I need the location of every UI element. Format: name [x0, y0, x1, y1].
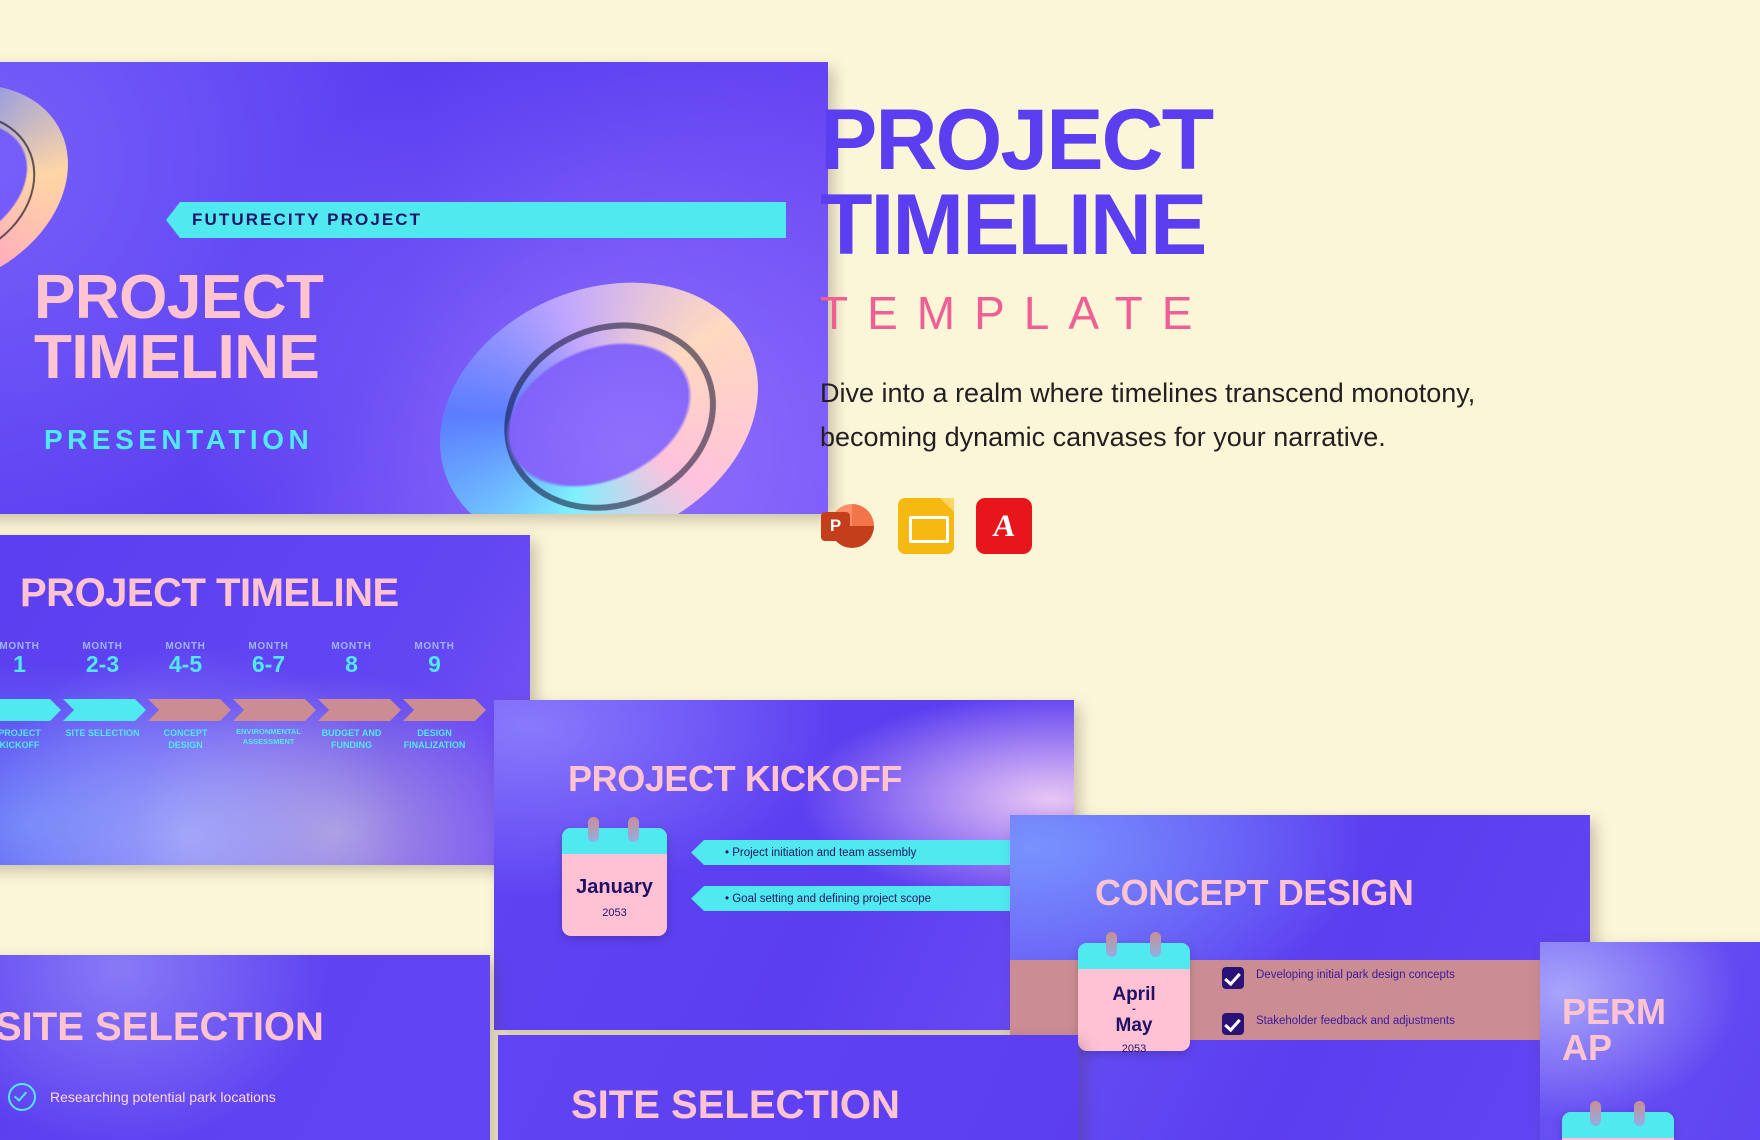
hero-ribbon-label: FUTURECITY PROJECT	[192, 210, 422, 230]
calendar-november: November 2053	[1562, 1112, 1674, 1140]
file-format-icons: P A	[820, 498, 1520, 554]
slides-frame-glyph	[909, 516, 949, 543]
powerpoint-icon[interactable]: P	[820, 498, 876, 554]
permit-title-line2: AP	[1562, 1030, 1666, 1066]
slide-project-timeline[interactable]: PROJECT TIMELINE MONTH 1 MONTH 2-3 MONTH…	[0, 535, 530, 865]
timeline-step-label: CONCEPT DESIGN	[144, 727, 227, 751]
timeline-chevron	[318, 699, 401, 721]
holographic-torus-icon	[397, 234, 800, 514]
calendar-january: January 2053	[562, 828, 667, 936]
month-value: 2-3	[61, 652, 144, 676]
kickoff-slide-title: PROJECT KICKOFF	[568, 758, 902, 800]
timeline-chevron-bar	[0, 699, 530, 721]
site-check-text: Researching potential park locations	[50, 1089, 276, 1105]
concept-slide-title: CONCEPT DESIGN	[1095, 872, 1413, 914]
slide-project-kickoff[interactable]: PROJECT KICKOFF January 2053 Project ini…	[494, 700, 1074, 1030]
month-value: 9	[393, 652, 476, 676]
timeline-chevron	[403, 699, 486, 721]
timeline-month-row: MONTH 1 MONTH 2-3 MONTH 4-5 MONTH 6-7 MO…	[0, 641, 530, 676]
calendar-rings-icon	[562, 817, 667, 839]
month-value: 8	[310, 652, 393, 676]
kickoff-bullet-text: Project initiation and team assembly	[725, 847, 916, 859]
check-circle-icon	[8, 1083, 36, 1111]
page-description: Dive into a realm where timelines transc…	[820, 372, 1480, 459]
hero-subtitle: PRESENTATION	[44, 424, 313, 456]
powerpoint-letter: P	[821, 512, 850, 541]
timeline-step-labels: PROJECT KICKOFF SITE SELECTION CONCEPT D…	[0, 727, 530, 751]
checkbox-checked-icon[interactable]	[1222, 967, 1244, 989]
calendar-year: 2053	[1078, 1043, 1190, 1055]
slide-hero-title[interactable]: FUTURECITY PROJECT PROJECT TIMELINE PRES…	[0, 62, 828, 514]
slide-deck-preview: FUTURECITY PROJECT PROJECT TIMELINE PRES…	[0, 0, 1760, 1140]
kickoff-bullet-bar: Project initiation and team assembly	[691, 840, 1031, 865]
timeline-chevron	[0, 699, 61, 721]
page-title-line2: TIMELINE	[820, 183, 1520, 268]
permit-title-line1: PERM	[1562, 994, 1666, 1030]
site-check-row: Researching potential park locations	[8, 1083, 276, 1111]
calendar-april-may: April - May 2053	[1078, 943, 1190, 1051]
timeline-chevron	[63, 699, 146, 721]
timeline-month-cell: MONTH 8	[310, 641, 393, 676]
timeline-step-label: PROJECT KICKOFF	[0, 727, 61, 751]
calendar-rings-icon	[1078, 932, 1190, 954]
slide-concept-design[interactable]: CONCEPT DESIGN April - May 2053 Developi…	[1010, 815, 1590, 1140]
checkbox-checked-icon[interactable]	[1222, 1013, 1244, 1035]
concept-checklist-row[interactable]: Stakeholder feedback and adjustments	[1222, 1013, 1455, 1035]
product-info-panel: PROJECT TIMELINE TEMPLATE Dive into a re…	[820, 98, 1520, 554]
calendar-year: 2053	[562, 907, 667, 919]
timeline-chevron	[148, 699, 231, 721]
calendar-month: January	[562, 876, 667, 899]
calendar-month-line1: April	[1078, 985, 1190, 1004]
timeline-step-label: SITE SELECTION	[61, 727, 144, 751]
kickoff-bullet-text: Goal setting and defining project scope	[725, 893, 931, 905]
slide-site-selection[interactable]: SITE SELECTION Researching potential par…	[0, 955, 490, 1140]
month-label: MONTH	[0, 641, 61, 652]
page-title-line1: PROJECT	[820, 98, 1520, 183]
month-value: 4-5	[144, 652, 227, 676]
hero-title-line2: TIMELINE	[34, 328, 454, 388]
kickoff-bullet-bar: Goal setting and defining project scope	[691, 886, 1031, 911]
timeline-month-cell: MONTH 6-7	[227, 641, 310, 676]
pdf-letter: A	[991, 508, 1017, 544]
hero-ribbon: FUTURECITY PROJECT	[166, 202, 786, 238]
slide-site-selection-secondary[interactable]: SITE SELECTION	[498, 1035, 1078, 1140]
site-slide-title: SITE SELECTION	[0, 1005, 324, 1050]
permit-slide-title: PERM AP	[1562, 994, 1666, 1066]
site2-slide-title: SITE SELECTION	[571, 1083, 900, 1128]
timeline-step-label: DESIGN FINALIZATION	[393, 727, 476, 751]
timeline-month-cell: MONTH 9	[393, 641, 476, 676]
concept-checklist-text: Developing initial park design concepts	[1256, 967, 1455, 983]
google-slides-icon[interactable]	[898, 498, 954, 554]
slide-permit-approval[interactable]: PERM AP November 2053	[1540, 942, 1760, 1140]
timeline-chevron	[233, 699, 316, 721]
timeline-step-label: ENVIRONMENTAL ASSESSMENT	[227, 727, 310, 751]
pdf-icon[interactable]: A	[976, 498, 1032, 554]
concept-checklist-row[interactable]: Developing initial park design concepts	[1222, 967, 1455, 989]
hero-title: PROJECT TIMELINE	[34, 268, 454, 387]
month-value: 6-7	[227, 652, 310, 676]
timeline-step-label: BUDGET AND FUNDING	[310, 727, 393, 751]
timeline-month-cell: MONTH 4-5	[144, 641, 227, 676]
month-value: 1	[0, 652, 61, 676]
concept-checklist-text: Stakeholder feedback and adjustments	[1256, 1013, 1455, 1029]
page-subtitle: TEMPLATE	[820, 286, 1520, 340]
page-title: PROJECT TIMELINE	[820, 98, 1520, 268]
calendar-month-dash: -	[1078, 1004, 1190, 1015]
timeline-month-cell: MONTH 1	[0, 641, 61, 676]
timeline-slide-title: PROJECT TIMELINE	[20, 571, 399, 616]
calendar-month-line3: May	[1078, 1016, 1190, 1035]
calendar-rings-icon	[1562, 1101, 1674, 1123]
timeline-month-cell: MONTH 2-3	[61, 641, 144, 676]
hero-title-line1: PROJECT	[34, 268, 454, 328]
